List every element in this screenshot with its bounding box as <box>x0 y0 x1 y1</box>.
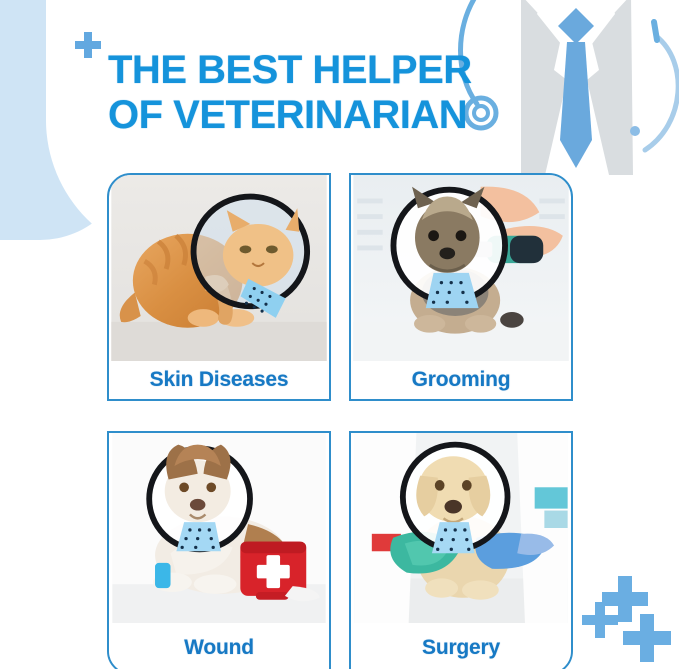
card-label-wound: Wound <box>109 623 329 669</box>
card-grooming[interactable]: Grooming <box>349 173 573 401</box>
product-infographic-page: THE BEST HELPER OF VETERINARIAN <box>0 0 679 669</box>
page-title: THE BEST HELPER OF VETERINARIAN <box>108 48 528 138</box>
card-image-grooming <box>351 175 571 361</box>
plus-cross-icon <box>623 614 671 662</box>
card-label-skin-diseases: Skin Diseases <box>109 361 329 399</box>
card-image-skin-diseases <box>109 175 329 361</box>
card-wound[interactable]: Wound <box>107 431 331 669</box>
plus-cross-icon <box>582 602 618 638</box>
card-skin-diseases[interactable]: Skin Diseases <box>107 173 331 401</box>
card-label-surgery: Surgery <box>351 623 571 669</box>
plus-cross-icon <box>75 32 101 58</box>
category-card-grid: Skin Diseases <box>107 173 573 669</box>
card-image-surgery <box>351 433 571 623</box>
card-surgery[interactable]: Surgery <box>349 431 573 669</box>
card-image-wound <box>109 433 329 623</box>
card-label-grooming: Grooming <box>351 361 571 399</box>
